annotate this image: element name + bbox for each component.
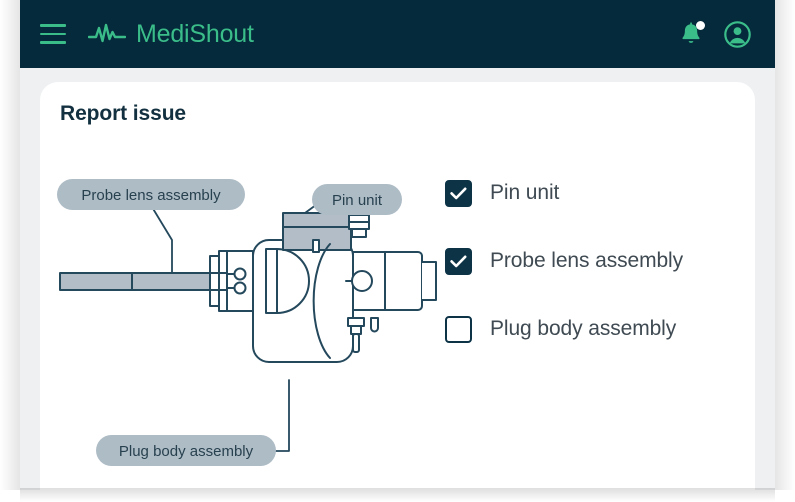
heartbeat-waveform-icon — [88, 23, 126, 45]
checkbox-label-pin-unit: Pin unit — [490, 181, 559, 205]
top-navigation-bar: MediShout — [20, 0, 775, 68]
checkbox-label-probe-lens-assembly: Probe lens assembly — [490, 249, 683, 273]
page-title: Report issue — [60, 102, 186, 126]
report-issue-card: Report issue — [40, 82, 755, 490]
checkbox-pin-unit[interactable] — [445, 180, 472, 207]
right-edge-shadow — [775, 0, 795, 490]
callout-label-plug-body: Plug body assembly — [119, 443, 254, 460]
check-icon — [450, 187, 467, 200]
notification-badge-dot — [696, 21, 705, 30]
callout-label-probe-lens: Probe lens assembly — [81, 187, 221, 204]
account-button[interactable] — [724, 21, 751, 48]
left-edge-shadow — [0, 0, 20, 490]
bottom-edge-shadow — [20, 488, 775, 502]
check-icon — [450, 255, 467, 268]
checkbox-row-plug-body-assembly[interactable]: Plug body assembly — [445, 312, 676, 346]
callout-pill-layer: Probe lens assembly Pin unit Plug body a… — [40, 152, 440, 490]
callout-pin-unit[interactable]: Pin unit — [312, 184, 402, 215]
topbar-left-group: MediShout — [40, 20, 254, 49]
notifications-button[interactable] — [680, 22, 702, 46]
checkbox-probe-lens-assembly[interactable] — [445, 248, 472, 275]
topbar-right-group — [680, 21, 751, 48]
device-diagram: Probe lens assembly Pin unit Plug body a… — [40, 152, 440, 490]
hamburger-menu-icon[interactable] — [40, 24, 66, 44]
callout-label-pin-unit: Pin unit — [332, 192, 383, 209]
checkbox-row-probe-lens-assembly[interactable]: Probe lens assembly — [445, 244, 683, 278]
checkbox-label-plug-body-assembly: Plug body assembly — [490, 317, 676, 341]
brand-logo[interactable]: MediShout — [88, 20, 254, 49]
component-checkbox-list: Pin unit Probe lens assembly Plug body a… — [445, 176, 745, 346]
brand-name: MediShout — [136, 20, 254, 49]
callout-plug-body-assembly[interactable]: Plug body assembly — [96, 435, 276, 466]
user-account-icon — [724, 21, 751, 48]
checkbox-row-pin-unit[interactable]: Pin unit — [445, 176, 559, 210]
callout-probe-lens-assembly[interactable]: Probe lens assembly — [57, 179, 245, 210]
app-root: MediShout Report issue — [0, 0, 795, 502]
card-body: Probe lens assembly Pin unit Plug body a… — [40, 152, 755, 490]
checkbox-plug-body-assembly[interactable] — [445, 316, 472, 343]
